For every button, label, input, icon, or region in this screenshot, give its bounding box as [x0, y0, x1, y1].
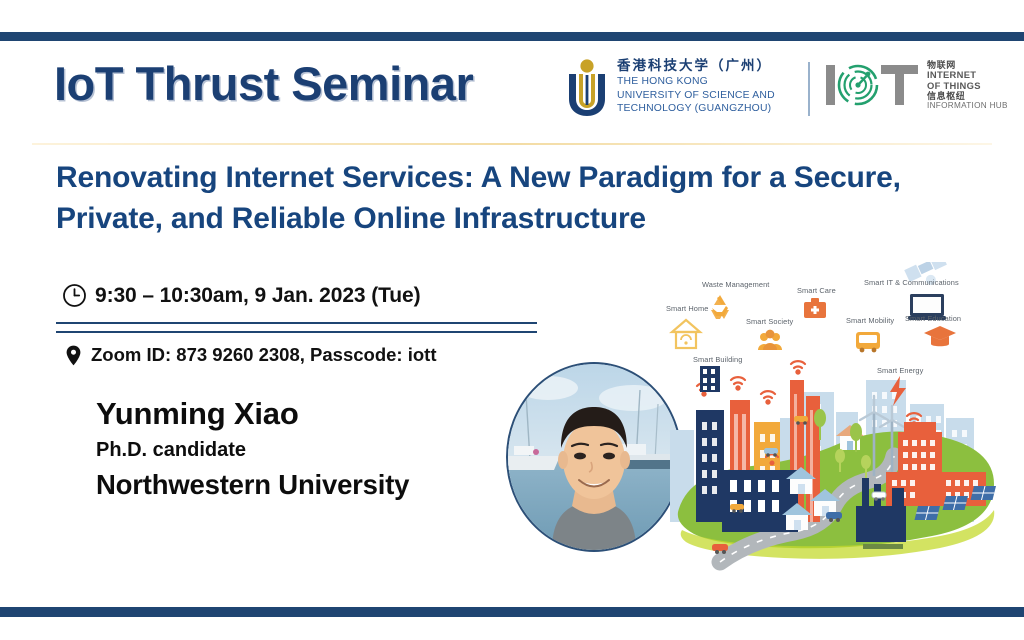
city-label: Smart Education	[905, 314, 961, 323]
speaker-name: Yunming Xiao	[96, 396, 496, 433]
city-label: Smart IT & Communications	[864, 278, 959, 287]
city-label: Smart Building	[693, 355, 742, 364]
city-label: Smart Home	[666, 304, 708, 313]
hkust-emblem-icon	[566, 58, 608, 116]
iot-english-line-3: INFORMATION HUB	[927, 101, 1008, 110]
poster-header: IoT Thrust Seminar 香港科技大学（广州） THE HONG K…	[0, 48, 1024, 140]
hkust-english-line-2: UNIVERSITY OF SCIENCE AND	[617, 89, 775, 102]
hkust-logo-text: 香港科技大学（广州） THE HONG KONG UNIVERSITY OF S…	[617, 59, 775, 115]
talk-title: Renovating Internet Services: A New Para…	[56, 158, 956, 240]
speaker-block: Yunming Xiao Ph.D. candidate Northwester…	[96, 396, 496, 501]
clock-icon	[62, 283, 87, 308]
factory	[856, 478, 906, 549]
bottom-navy-rule	[0, 607, 1024, 617]
hkust-gz-logo: 香港科技大学（广州） THE HONG KONG UNIVERSITY OF S…	[566, 58, 775, 116]
iot-logo-text: 物联网 INTERNET OF THINGS 信息枢纽 INFORMATION …	[927, 60, 1008, 110]
speaker-affiliation: Northwestern University	[96, 468, 496, 501]
info-double-rule	[56, 322, 537, 333]
hkust-english-name: THE HONG KONG UNIVERSITY OF SCIENCE AND …	[617, 75, 775, 115]
zoom-info-row: Zoom ID: 873 9260 2308, Passcode: iott	[66, 344, 436, 366]
top-navy-rule	[0, 32, 1024, 41]
recycle-icon	[711, 295, 729, 319]
medical-kit-icon	[804, 298, 826, 318]
seminar-series-title: IoT Thrust Seminar	[54, 56, 473, 111]
speaker-portrait-photo	[506, 362, 682, 552]
topic-icons	[672, 294, 956, 406]
city-label: Waste Management	[702, 280, 769, 289]
smart-society-icon	[758, 330, 782, 350]
iot-english-line-2: OF THINGS	[927, 81, 1008, 92]
smart-mobility-icon	[856, 332, 880, 352]
header-gold-divider	[32, 143, 992, 145]
zoom-info-text: Zoom ID: 873 9260 2308, Passcode: iott	[91, 344, 436, 366]
smart-education-icon	[924, 326, 956, 346]
logo-separator	[808, 62, 810, 116]
city-label: Smart Care	[797, 286, 836, 295]
city-label: Smart Society	[746, 317, 793, 326]
hkust-english-line-3: TECHNOLOGY (GUANGZHOU)	[617, 102, 775, 115]
iot-chinese-bottom: 信息枢纽	[927, 91, 1008, 101]
iot-wordmark-icon	[824, 61, 920, 109]
seminar-time-row: 9:30 – 10:30am, 9 Jan. 2023 (Tue)	[62, 283, 421, 308]
hkust-english-line-1: THE HONG KONG	[617, 75, 775, 88]
city-label: Smart Mobility	[846, 316, 894, 325]
seminar-time-text: 9:30 – 10:30am, 9 Jan. 2023 (Tue)	[95, 284, 421, 308]
seminar-poster: IoT Thrust Seminar 香港科技大学（广州） THE HONG K…	[0, 0, 1024, 640]
portrait-image	[508, 364, 680, 550]
smart-building-icon	[700, 366, 720, 392]
smart-city-illustration: Waste ManagementSmart CareSmart IT & Com…	[660, 262, 1008, 574]
smart-home-icon	[672, 320, 700, 348]
city-label: Smart Energy	[877, 366, 923, 375]
iot-information-hub-logo: 物联网 INTERNET OF THINGS 信息枢纽 INFORMATION …	[824, 60, 1008, 110]
location-pin-icon	[66, 345, 81, 366]
smart-city-graphic	[660, 262, 1008, 574]
speaker-role: Ph.D. candidate	[96, 438, 496, 462]
hkust-chinese-name: 香港科技大学（广州）	[617, 59, 775, 73]
